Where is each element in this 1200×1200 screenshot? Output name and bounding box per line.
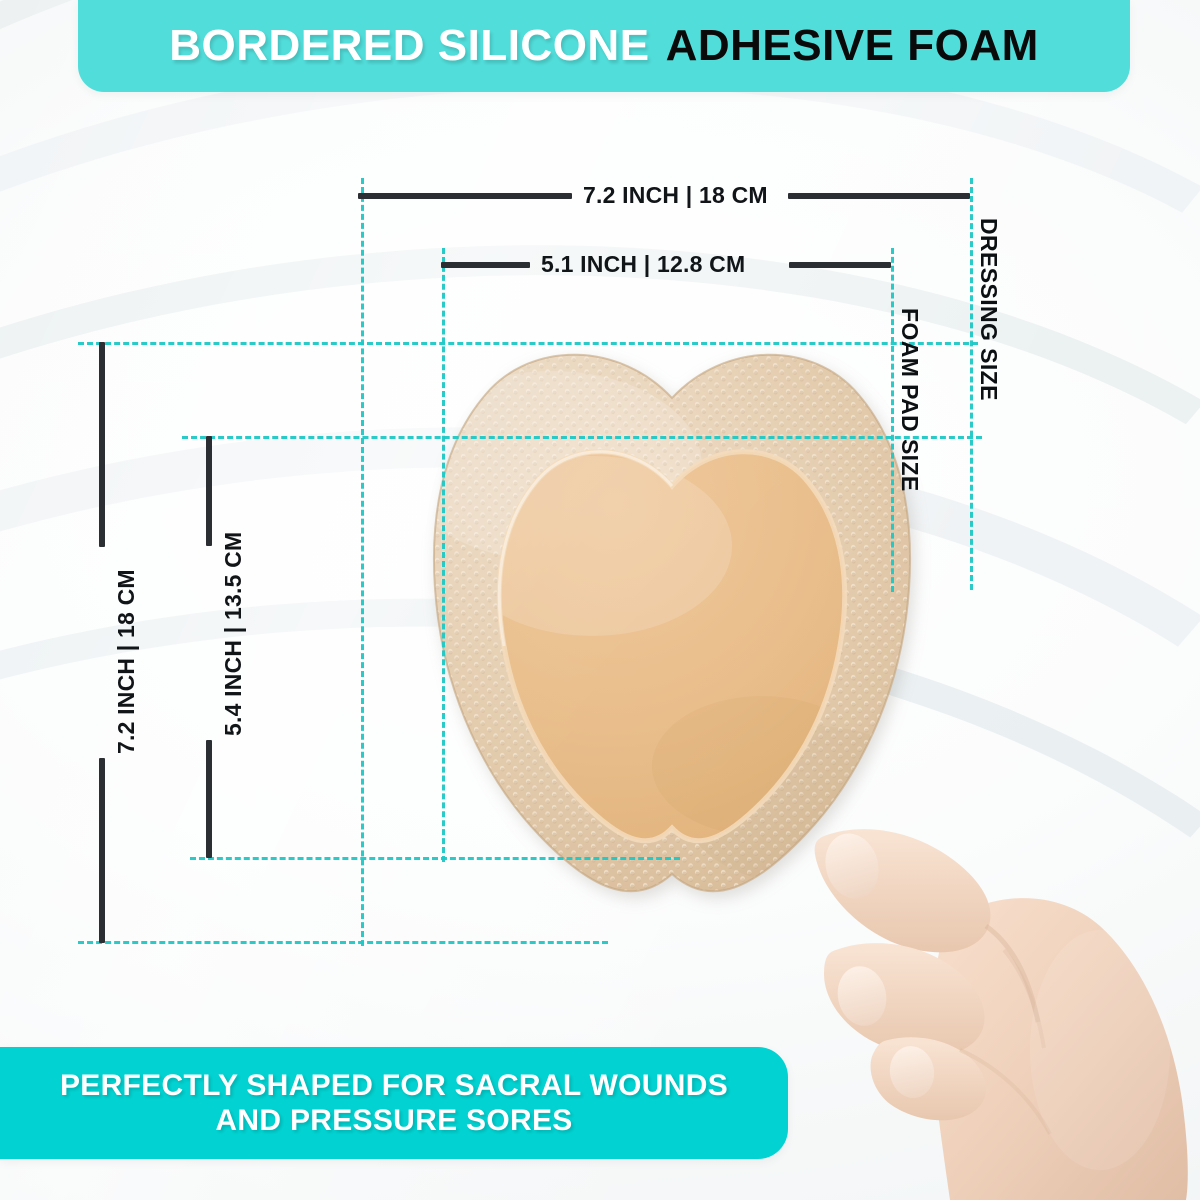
header-title-primary: BORDERED SILICONE — [169, 21, 649, 71]
guide-dash-horizontal-dressing-top — [78, 342, 978, 345]
guide-dash-vertical-dressing-right — [970, 178, 973, 590]
header-title: BORDERED SILICONE ADHESIVE FOAM — [169, 21, 1039, 71]
footer-banner: PERFECTLY SHAPED FOR SACRAL WOUNDS AND P… — [0, 1047, 788, 1159]
measure-rule-left-outer-bottom — [99, 758, 105, 943]
footer-line-1: PERFECTLY SHAPED FOR SACRAL WOUNDS — [60, 1068, 728, 1103]
measure-rule-top-inner-left — [441, 262, 530, 268]
label-dressing-size: DRESSING SIZE — [975, 218, 1002, 401]
measure-label-top-inner: 5.1 INCH | 12.8 CM — [541, 251, 745, 278]
measure-label-left-inner: 5.4 INCH | 13.5 CM — [220, 532, 247, 736]
measure-rule-top-outer-left — [358, 193, 572, 199]
measure-rule-left-inner-top — [206, 436, 212, 546]
measure-label-top-outer: 7.2 INCH | 18 CM — [583, 182, 768, 209]
guide-dash-vertical-pad-left — [442, 248, 445, 862]
guide-dash-vertical-pad-right — [891, 248, 894, 592]
guide-dash-vertical-dressing-left — [361, 178, 364, 946]
infographic-canvas: 7.2 INCH | 18 CM 5.1 INCH | 12.8 CM 7.2 … — [0, 0, 1200, 1200]
measure-rule-top-inner-right — [789, 262, 891, 268]
guide-dash-horizontal-pad-top — [182, 436, 982, 439]
measure-rule-top-outer-right — [788, 193, 970, 199]
header-banner: BORDERED SILICONE ADHESIVE FOAM — [78, 0, 1130, 92]
guide-dash-horizontal-dressing-bottom — [78, 941, 608, 944]
measure-rule-left-inner-bottom — [206, 740, 212, 858]
header-title-secondary: ADHESIVE FOAM — [666, 21, 1039, 71]
hand-holding-product — [800, 800, 1200, 1200]
label-foam-pad-size: FOAM PAD SIZE — [896, 308, 923, 492]
footer-line-2: AND PRESSURE SORES — [215, 1103, 572, 1138]
measure-label-left-outer: 7.2 INCH | 18 CM — [113, 569, 140, 754]
measure-rule-left-outer-top — [99, 342, 105, 547]
guide-dash-horizontal-pad-bottom — [190, 857, 680, 860]
